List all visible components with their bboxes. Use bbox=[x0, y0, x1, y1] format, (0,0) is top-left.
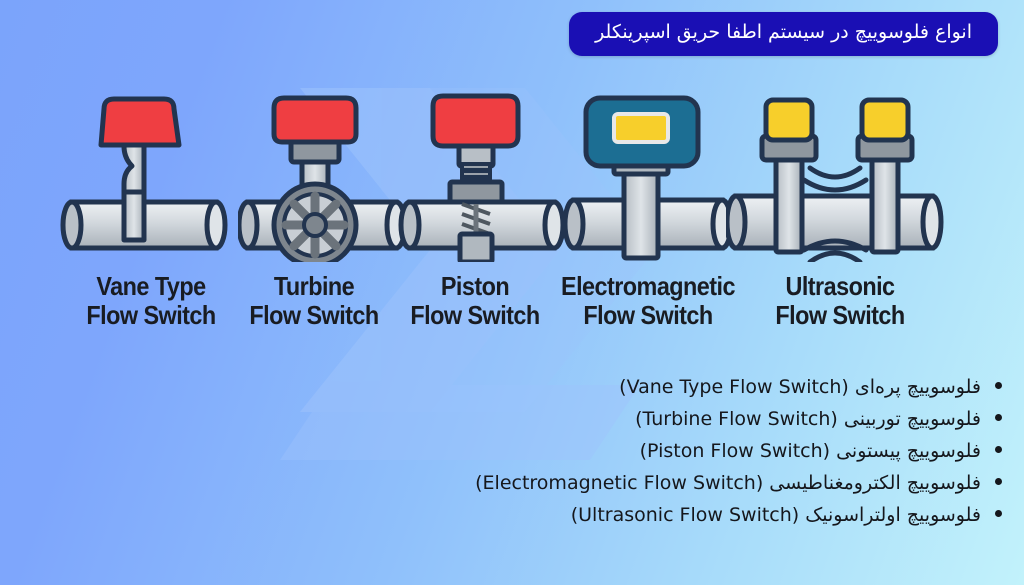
ultrasonic-flow-switch-icon bbox=[726, 92, 944, 262]
list-item-label: فلوسوییچ الکترومغناطیسی (Electromagnetic… bbox=[302, 474, 981, 493]
label-vane-line1: Vane Type bbox=[96, 271, 205, 301]
device-label-row: Vane Type Flow Switch Turbine Flow Switc… bbox=[0, 272, 1024, 354]
label-turbine-line2: Flow Switch bbox=[237, 301, 392, 330]
page-title-badge: انواع فلوسوییچ در سیستم اطفا حریق اسپرین… bbox=[569, 12, 998, 56]
list-item: فلوسوییچ پره‌ای (Vane Type Flow Switch) bbox=[302, 378, 1002, 397]
bullet-dot-icon bbox=[995, 414, 1002, 421]
device-illustration-row bbox=[0, 92, 1024, 262]
label-electromagnetic-line2: Flow Switch bbox=[556, 301, 740, 330]
bullet-dot-icon bbox=[995, 478, 1002, 485]
device-electromagnetic bbox=[562, 92, 734, 262]
label-piston-line2: Flow Switch bbox=[400, 301, 549, 330]
electromagnetic-flow-switch-icon bbox=[562, 92, 734, 262]
vane-type-flow-switch-icon bbox=[58, 92, 230, 262]
label-electromagnetic-line1: Electromagnetic bbox=[561, 271, 735, 301]
list-item: فلوسوییچ الکترومغناطیسی (Electromagnetic… bbox=[302, 474, 1002, 493]
label-ultrasonic-line2: Flow Switch bbox=[752, 301, 928, 330]
bullet-dot-icon bbox=[995, 382, 1002, 389]
label-electromagnetic: Electromagnetic Flow Switch bbox=[556, 272, 740, 330]
list-item-label: فلوسوییچ پیستونی (Piston Flow Switch) bbox=[302, 442, 981, 461]
device-turbine bbox=[238, 92, 406, 262]
label-piston-line1: Piston bbox=[441, 271, 509, 301]
list-item: فلوسوییچ اولتراسونیک (Ultrasonic Flow Sw… bbox=[302, 506, 1002, 525]
device-piston bbox=[398, 92, 566, 262]
label-piston: Piston Flow Switch bbox=[400, 272, 549, 330]
label-turbine: Turbine Flow Switch bbox=[237, 272, 392, 330]
list-item-label: فلوسوییچ پره‌ای (Vane Type Flow Switch) bbox=[302, 378, 981, 397]
bullet-dot-icon bbox=[995, 510, 1002, 517]
label-vane-line2: Flow Switch bbox=[67, 301, 234, 330]
page-title: انواع فلوسوییچ در سیستم اطفا حریق اسپرین… bbox=[595, 21, 972, 45]
list-item: فلوسوییچ توربینی (Turbine Flow Switch) bbox=[302, 410, 1002, 429]
device-ultrasonic bbox=[726, 92, 944, 262]
label-turbine-line1: Turbine bbox=[274, 271, 354, 301]
list-item-label: فلوسوییچ اولتراسونیک (Ultrasonic Flow Sw… bbox=[302, 506, 981, 525]
list-item: فلوسوییچ پیستونی (Piston Flow Switch) bbox=[302, 442, 1002, 461]
label-ultrasonic-line1: Ultrasonic bbox=[785, 271, 894, 301]
turbine-flow-switch-icon bbox=[238, 92, 406, 262]
label-ultrasonic: Ultrasonic Flow Switch bbox=[752, 272, 928, 330]
bullet-dot-icon bbox=[995, 446, 1002, 453]
flow-switch-type-list: فلوسوییچ پره‌ای (Vane Type Flow Switch) … bbox=[302, 378, 1002, 538]
list-item-label: فلوسوییچ توربینی (Turbine Flow Switch) bbox=[302, 410, 981, 429]
label-vane: Vane Type Flow Switch bbox=[67, 272, 234, 330]
device-vane bbox=[58, 92, 230, 262]
piston-flow-switch-icon bbox=[398, 92, 566, 262]
